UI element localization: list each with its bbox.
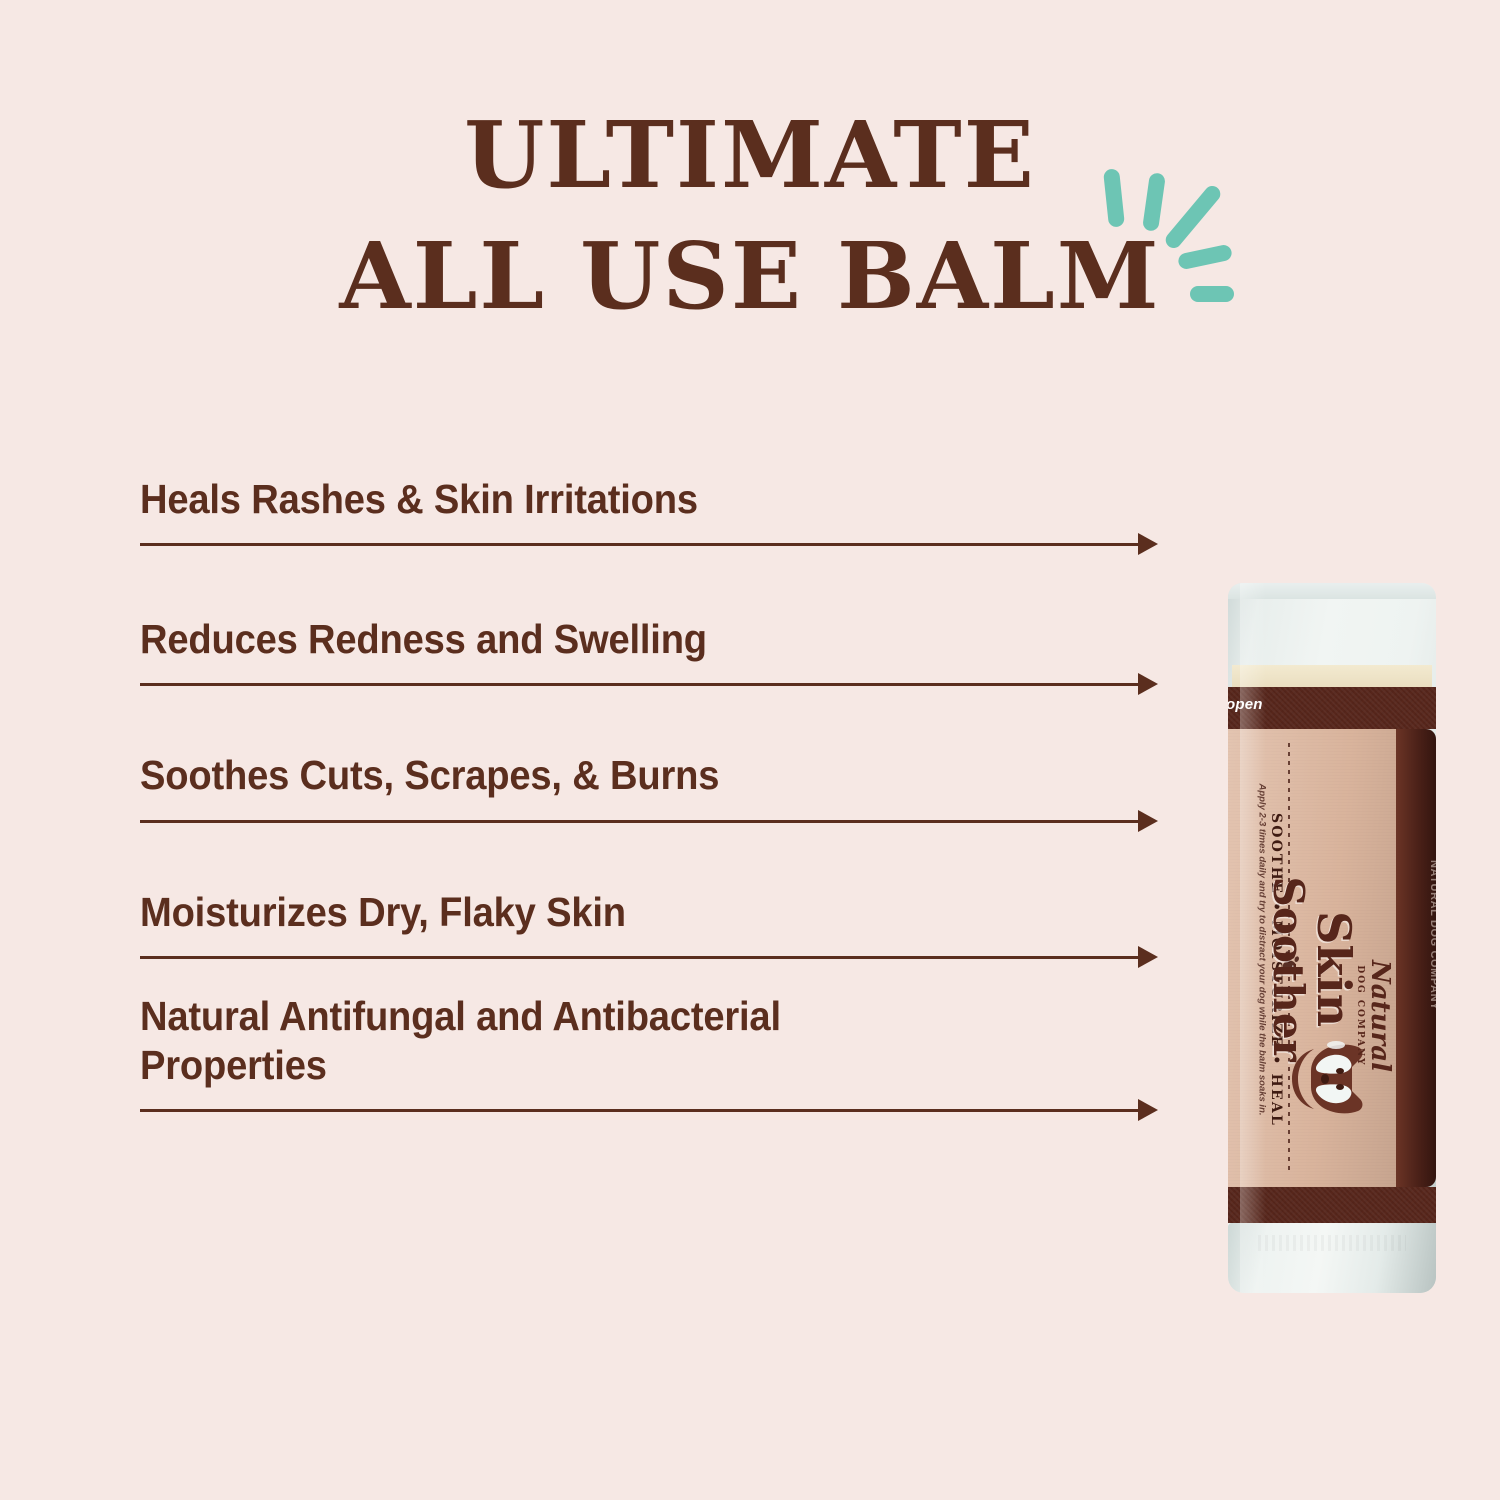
benefit-item: Heals Rashes & Skin Irritations	[140, 475, 1160, 555]
arrow-icon	[140, 810, 1158, 832]
arrow-head	[1138, 810, 1158, 832]
arrow-head	[1138, 533, 1158, 555]
benefit-item: Soothes Cuts, Scrapes, & Burns	[140, 751, 1160, 831]
arrow-shaft	[140, 1109, 1140, 1112]
benefit-item: Natural Antifungal and Antibacterial Pro…	[140, 992, 1160, 1121]
headline-line-1: ULTIMATE	[0, 95, 1500, 216]
tube-band-top: open	[1228, 687, 1436, 729]
headline-line-2: ALL USE BALM	[0, 216, 1500, 337]
benefit-label: Natural Antifungal and Antibacterial Pro…	[140, 992, 1089, 1090]
arrow-shaft	[140, 683, 1140, 686]
product-label: Apply 2-3 times daily and try to distrac…	[1228, 729, 1396, 1187]
benefit-item: Moisturizes Dry, Flaky Skin	[140, 888, 1160, 968]
tube-body: open Apply 2-3 times daily and try to di…	[1228, 583, 1436, 1293]
arrow-icon	[140, 946, 1158, 968]
arrow-head	[1138, 1099, 1158, 1121]
brand-subtitle: DOG COMPANY	[1355, 936, 1365, 1096]
cap-ridges	[1258, 1235, 1406, 1251]
benefit-item: Reduces Redness and Swelling	[140, 615, 1160, 695]
arrow-shaft	[140, 956, 1140, 959]
benefit-list: Heals Rashes & Skin Irritations Reduces …	[140, 475, 1160, 1121]
arrow-shaft	[140, 820, 1140, 823]
brand-script: Natural	[1367, 936, 1393, 1096]
brand-lockup: Natural DOG COMPANY	[1355, 936, 1393, 1096]
benefit-label: Moisturizes Dry, Flaky Skin	[140, 888, 1089, 937]
arrow-head	[1138, 946, 1158, 968]
benefit-label: Soothes Cuts, Scrapes, & Burns	[140, 751, 1089, 800]
product-image-skin-soother-tube: open Apply 2-3 times daily and try to di…	[1228, 583, 1436, 1293]
tube-side-text: NATURAL DOG COMPANY	[1428, 775, 1436, 1095]
tube-cap-top	[1228, 583, 1436, 599]
band-open-text: open	[1228, 696, 1263, 713]
benefit-label: Heals Rashes & Skin Irritations	[140, 475, 1089, 524]
tube-side-shadow: NATURAL DOG COMPANY	[1396, 729, 1436, 1187]
arrow-icon	[140, 673, 1158, 695]
arrow-icon	[140, 533, 1158, 555]
arrow-icon	[140, 1099, 1158, 1121]
arrow-shaft	[140, 543, 1140, 546]
tube-band-bottom	[1228, 1187, 1436, 1223]
benefit-label: Reduces Redness and Swelling	[140, 615, 1089, 664]
tube-cap-bottom	[1228, 1223, 1436, 1293]
arrow-head	[1138, 673, 1158, 695]
page-title: ULTIMATE ALL USE BALM	[0, 95, 1500, 338]
